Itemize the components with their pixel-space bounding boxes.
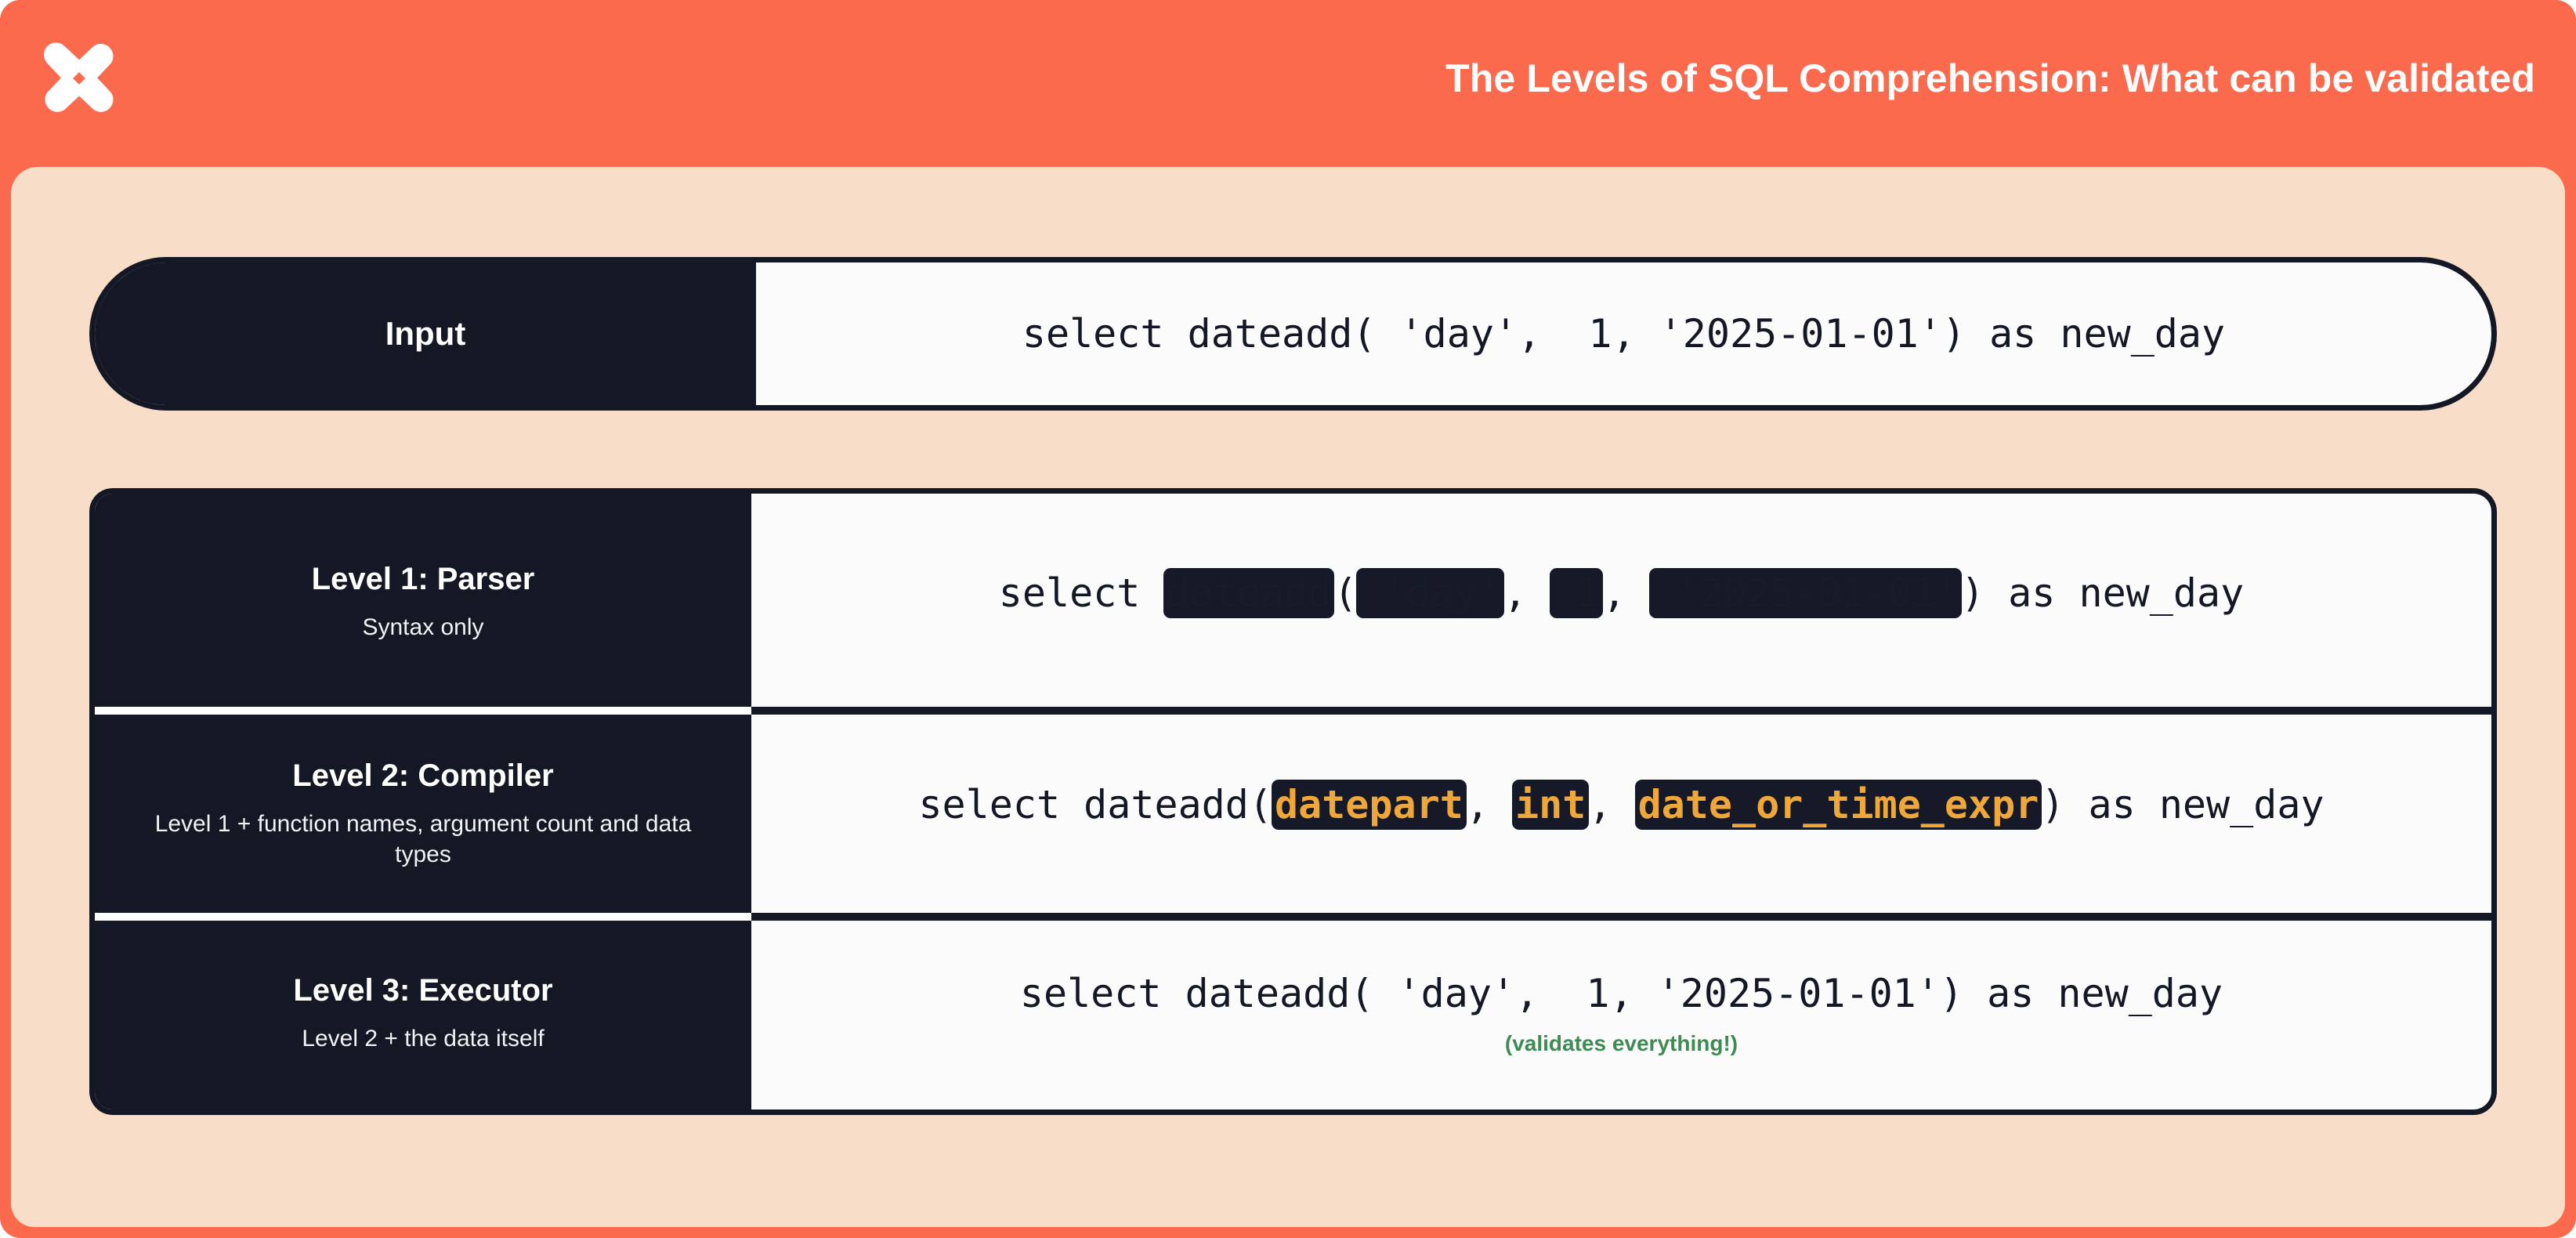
- level-3-title: Level 3: Executor: [293, 972, 552, 1008]
- code-token-typed: int: [1512, 780, 1589, 830]
- level-2-code-cell: select dateadd(datepart, int, date_or_ti…: [751, 711, 2491, 917]
- level-row: Level 1: Parser Syntax only select datea…: [95, 494, 2491, 711]
- level-1-sql-code: select dateadd( 'day', 1, '2025-01-01') …: [999, 572, 2244, 615]
- level-2-label: Level 2: Compiler Level 1 + function nam…: [95, 711, 751, 917]
- input-sql-code: select dateadd( 'day', 1, '2025-01-01') …: [1022, 313, 2225, 356]
- level-1-label: Level 1: Parser Syntax only: [95, 494, 751, 711]
- infographic-frame: The Levels of SQL Comprehension: What ca…: [0, 0, 2576, 1238]
- level-1-subtitle: Syntax only: [362, 613, 483, 643]
- code-token-redacted: 1: [1550, 568, 1603, 618]
- level-2-title: Level 2: Compiler: [292, 758, 553, 794]
- level-1-code-cell: select dateadd( 'day', 1, '2025-01-01') …: [751, 494, 2491, 711]
- code-token-redacted: '2025-01-01': [1649, 568, 1962, 618]
- pinwheel-x-logo-icon: [31, 31, 127, 126]
- page-title: The Levels of SQL Comprehension: What ca…: [1445, 59, 2535, 98]
- level-3-label: Level 3: Executor Level 2 + the data its…: [95, 917, 751, 1109]
- code-token-typed: date_or_time_expr: [1635, 780, 2042, 830]
- input-code-cell: select dateadd( 'day', 1, '2025-01-01') …: [756, 262, 2491, 405]
- level-1-title: Level 1: Parser: [312, 561, 535, 597]
- code-token-redacted: dateadd: [1163, 568, 1335, 618]
- level-2-subtitle: Level 1 + function names, argument count…: [131, 809, 715, 870]
- code-token-redacted: 'day': [1356, 568, 1504, 618]
- level-3-note: (validates everything!): [1505, 1033, 1738, 1055]
- input-label: Input: [95, 262, 756, 405]
- level-3-code-cell: select dateadd( 'day', 1, '2025-01-01') …: [751, 917, 2491, 1109]
- level-3-sql-code: select dateadd( 'day', 1, '2025-01-01') …: [1020, 972, 2223, 1015]
- code-token-typed: datepart: [1272, 780, 1467, 830]
- header-bar: The Levels of SQL Comprehension: What ca…: [0, 0, 2576, 157]
- level-2-sql-code: select dateadd(datepart, int, date_or_ti…: [918, 784, 2324, 827]
- level-3-subtitle: Level 2 + the data itself: [302, 1024, 544, 1054]
- content-panel: Input select dateadd( 'day', 1, '2025-01…: [11, 167, 2565, 1227]
- levels-card: Level 1: Parser Syntax only select datea…: [89, 488, 2497, 1115]
- level-row: Level 3: Executor Level 2 + the data its…: [95, 917, 2491, 1109]
- input-card: Input select dateadd( 'day', 1, '2025-01…: [89, 257, 2497, 411]
- level-row: Level 2: Compiler Level 1 + function nam…: [95, 711, 2491, 917]
